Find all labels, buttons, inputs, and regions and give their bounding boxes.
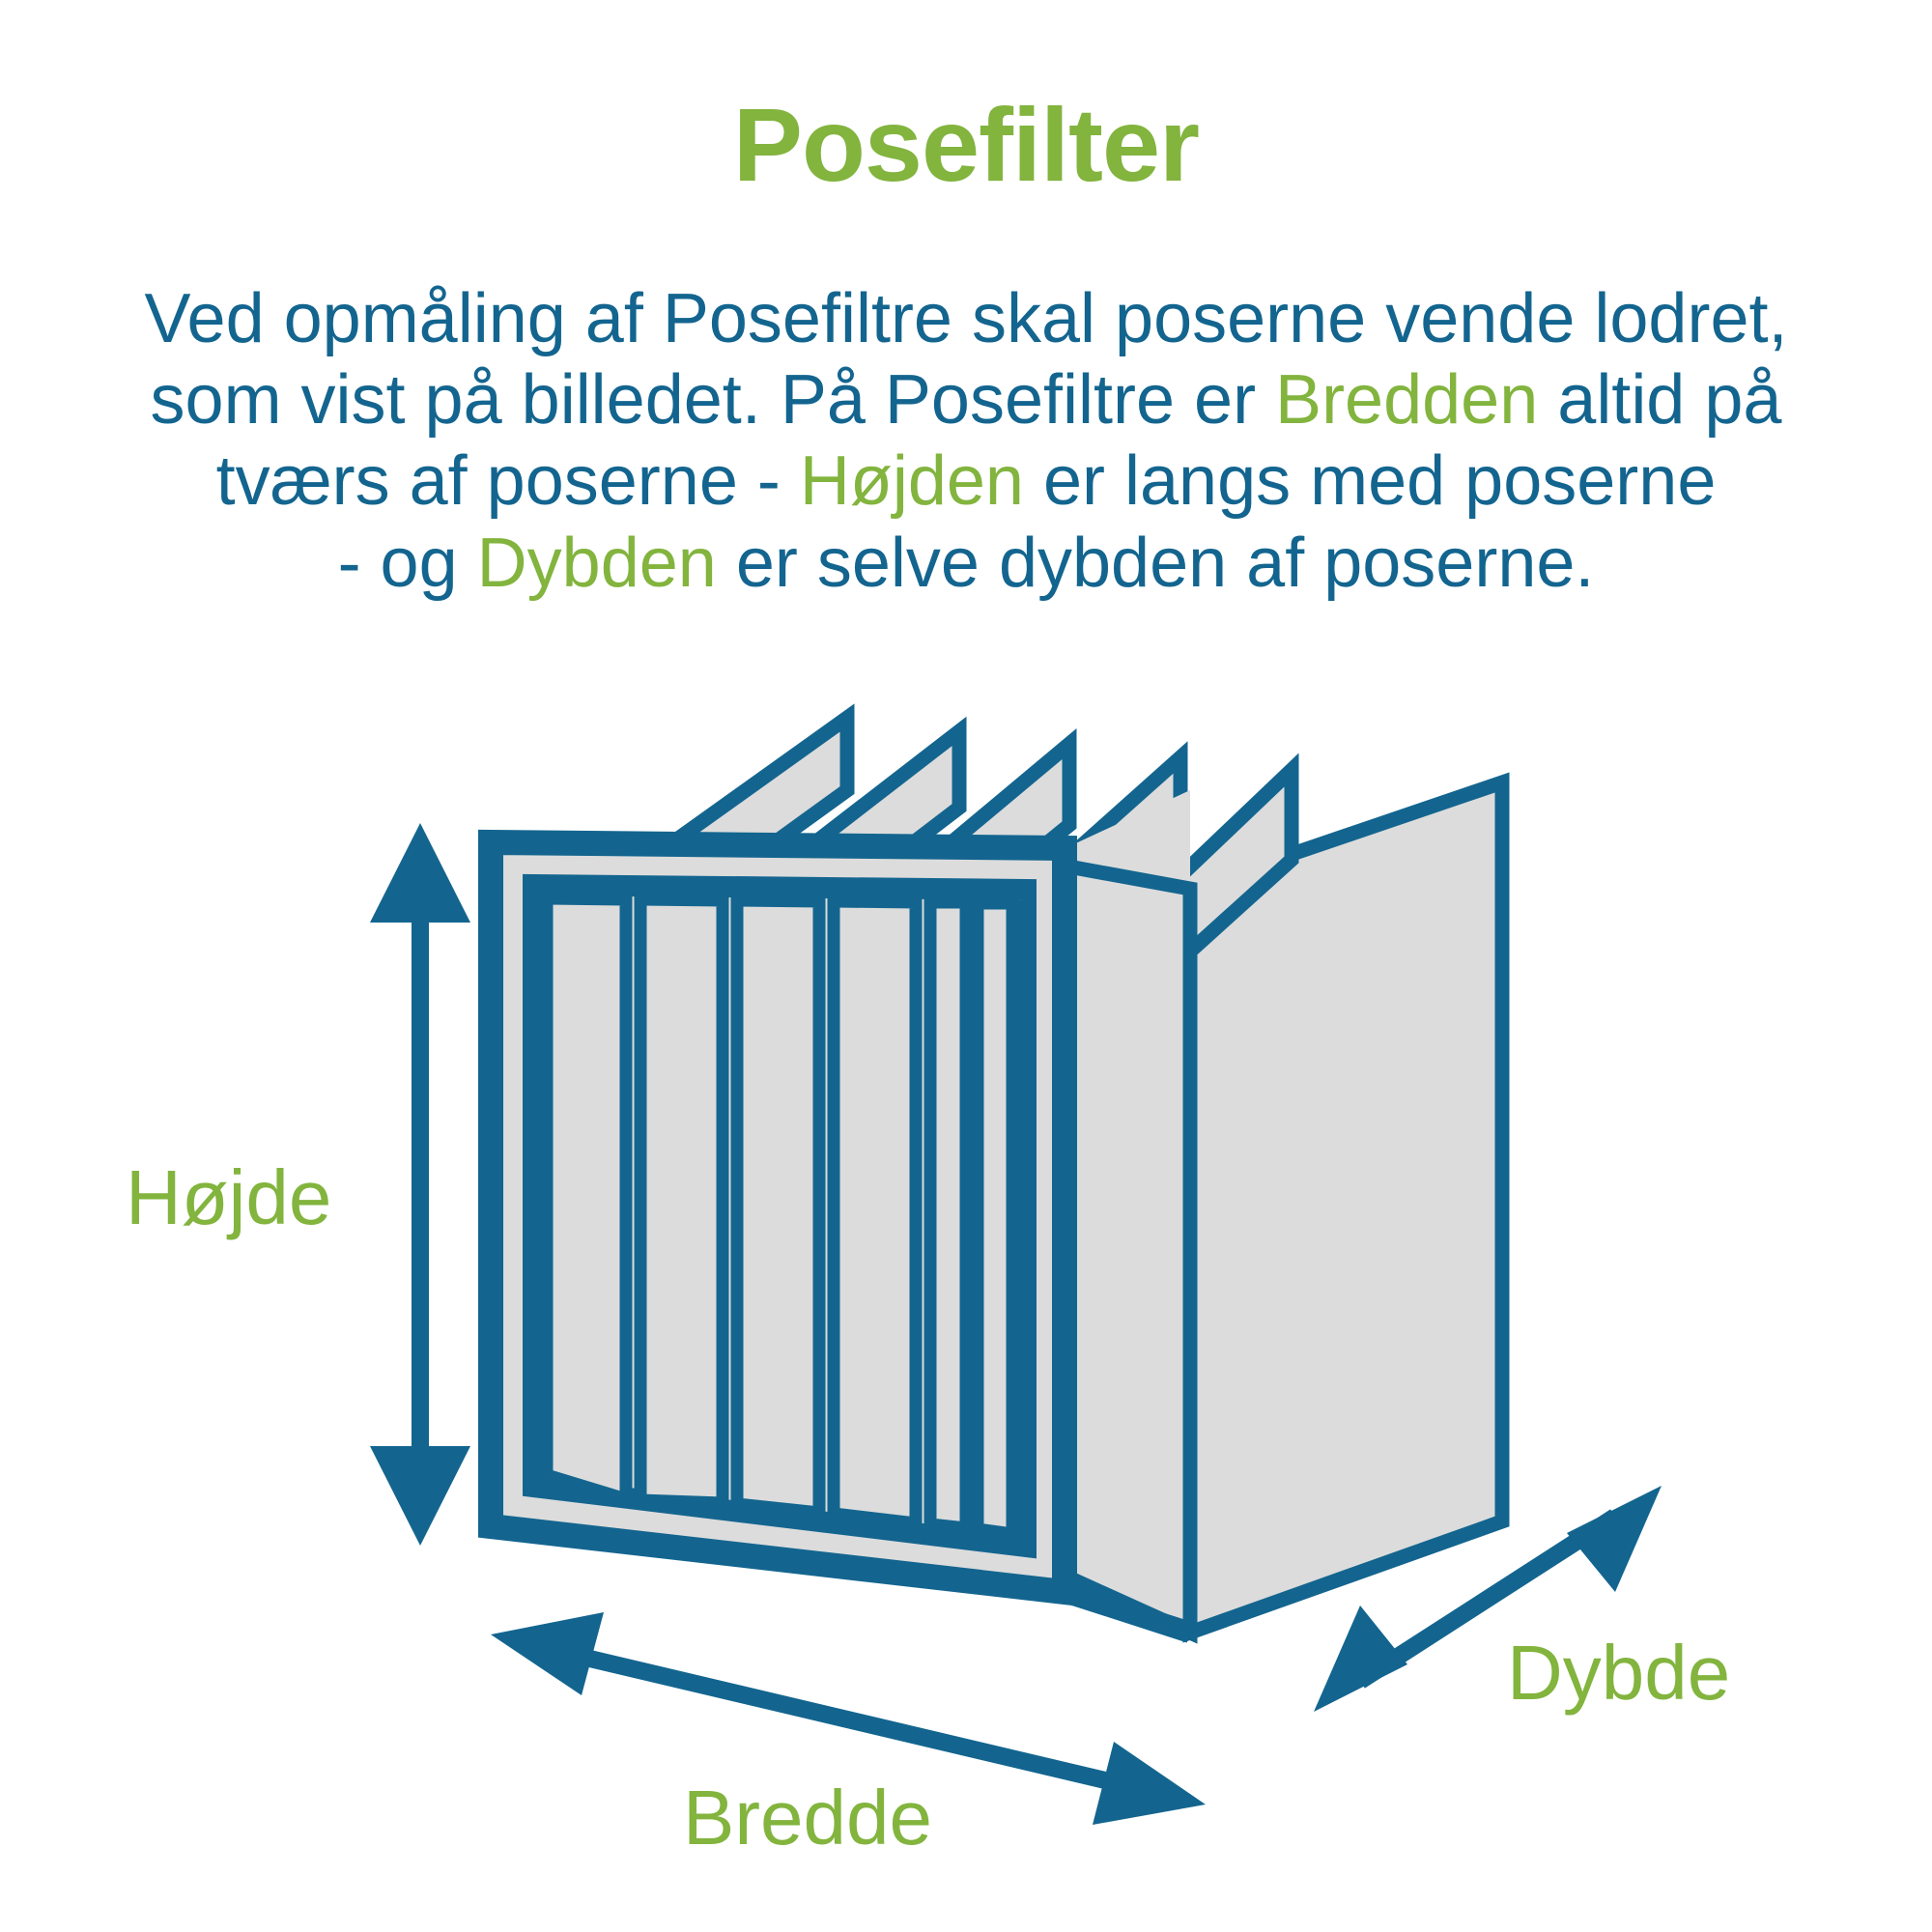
dimension-label-height: Højde	[126, 1159, 331, 1236]
pocket-cell-5	[930, 902, 966, 1528]
pocket-cell-1	[547, 898, 626, 1499]
height-arrow	[370, 823, 470, 1546]
pocket-cell-2	[640, 899, 723, 1503]
filter-front-frame	[491, 842, 1065, 1592]
dimension-label-width: Bredde	[683, 1779, 932, 1857]
poster-root: Posefilter Ved opmåling af Posefiltre sk…	[0, 0, 1932, 1932]
pocket-cell-6	[978, 903, 1012, 1534]
pocket-cell-4	[834, 901, 916, 1523]
filter-right-side-face	[1058, 865, 1190, 1633]
dimension-label-depth: Dybde	[1507, 1634, 1730, 1712]
pocket-cell-3	[737, 900, 819, 1513]
